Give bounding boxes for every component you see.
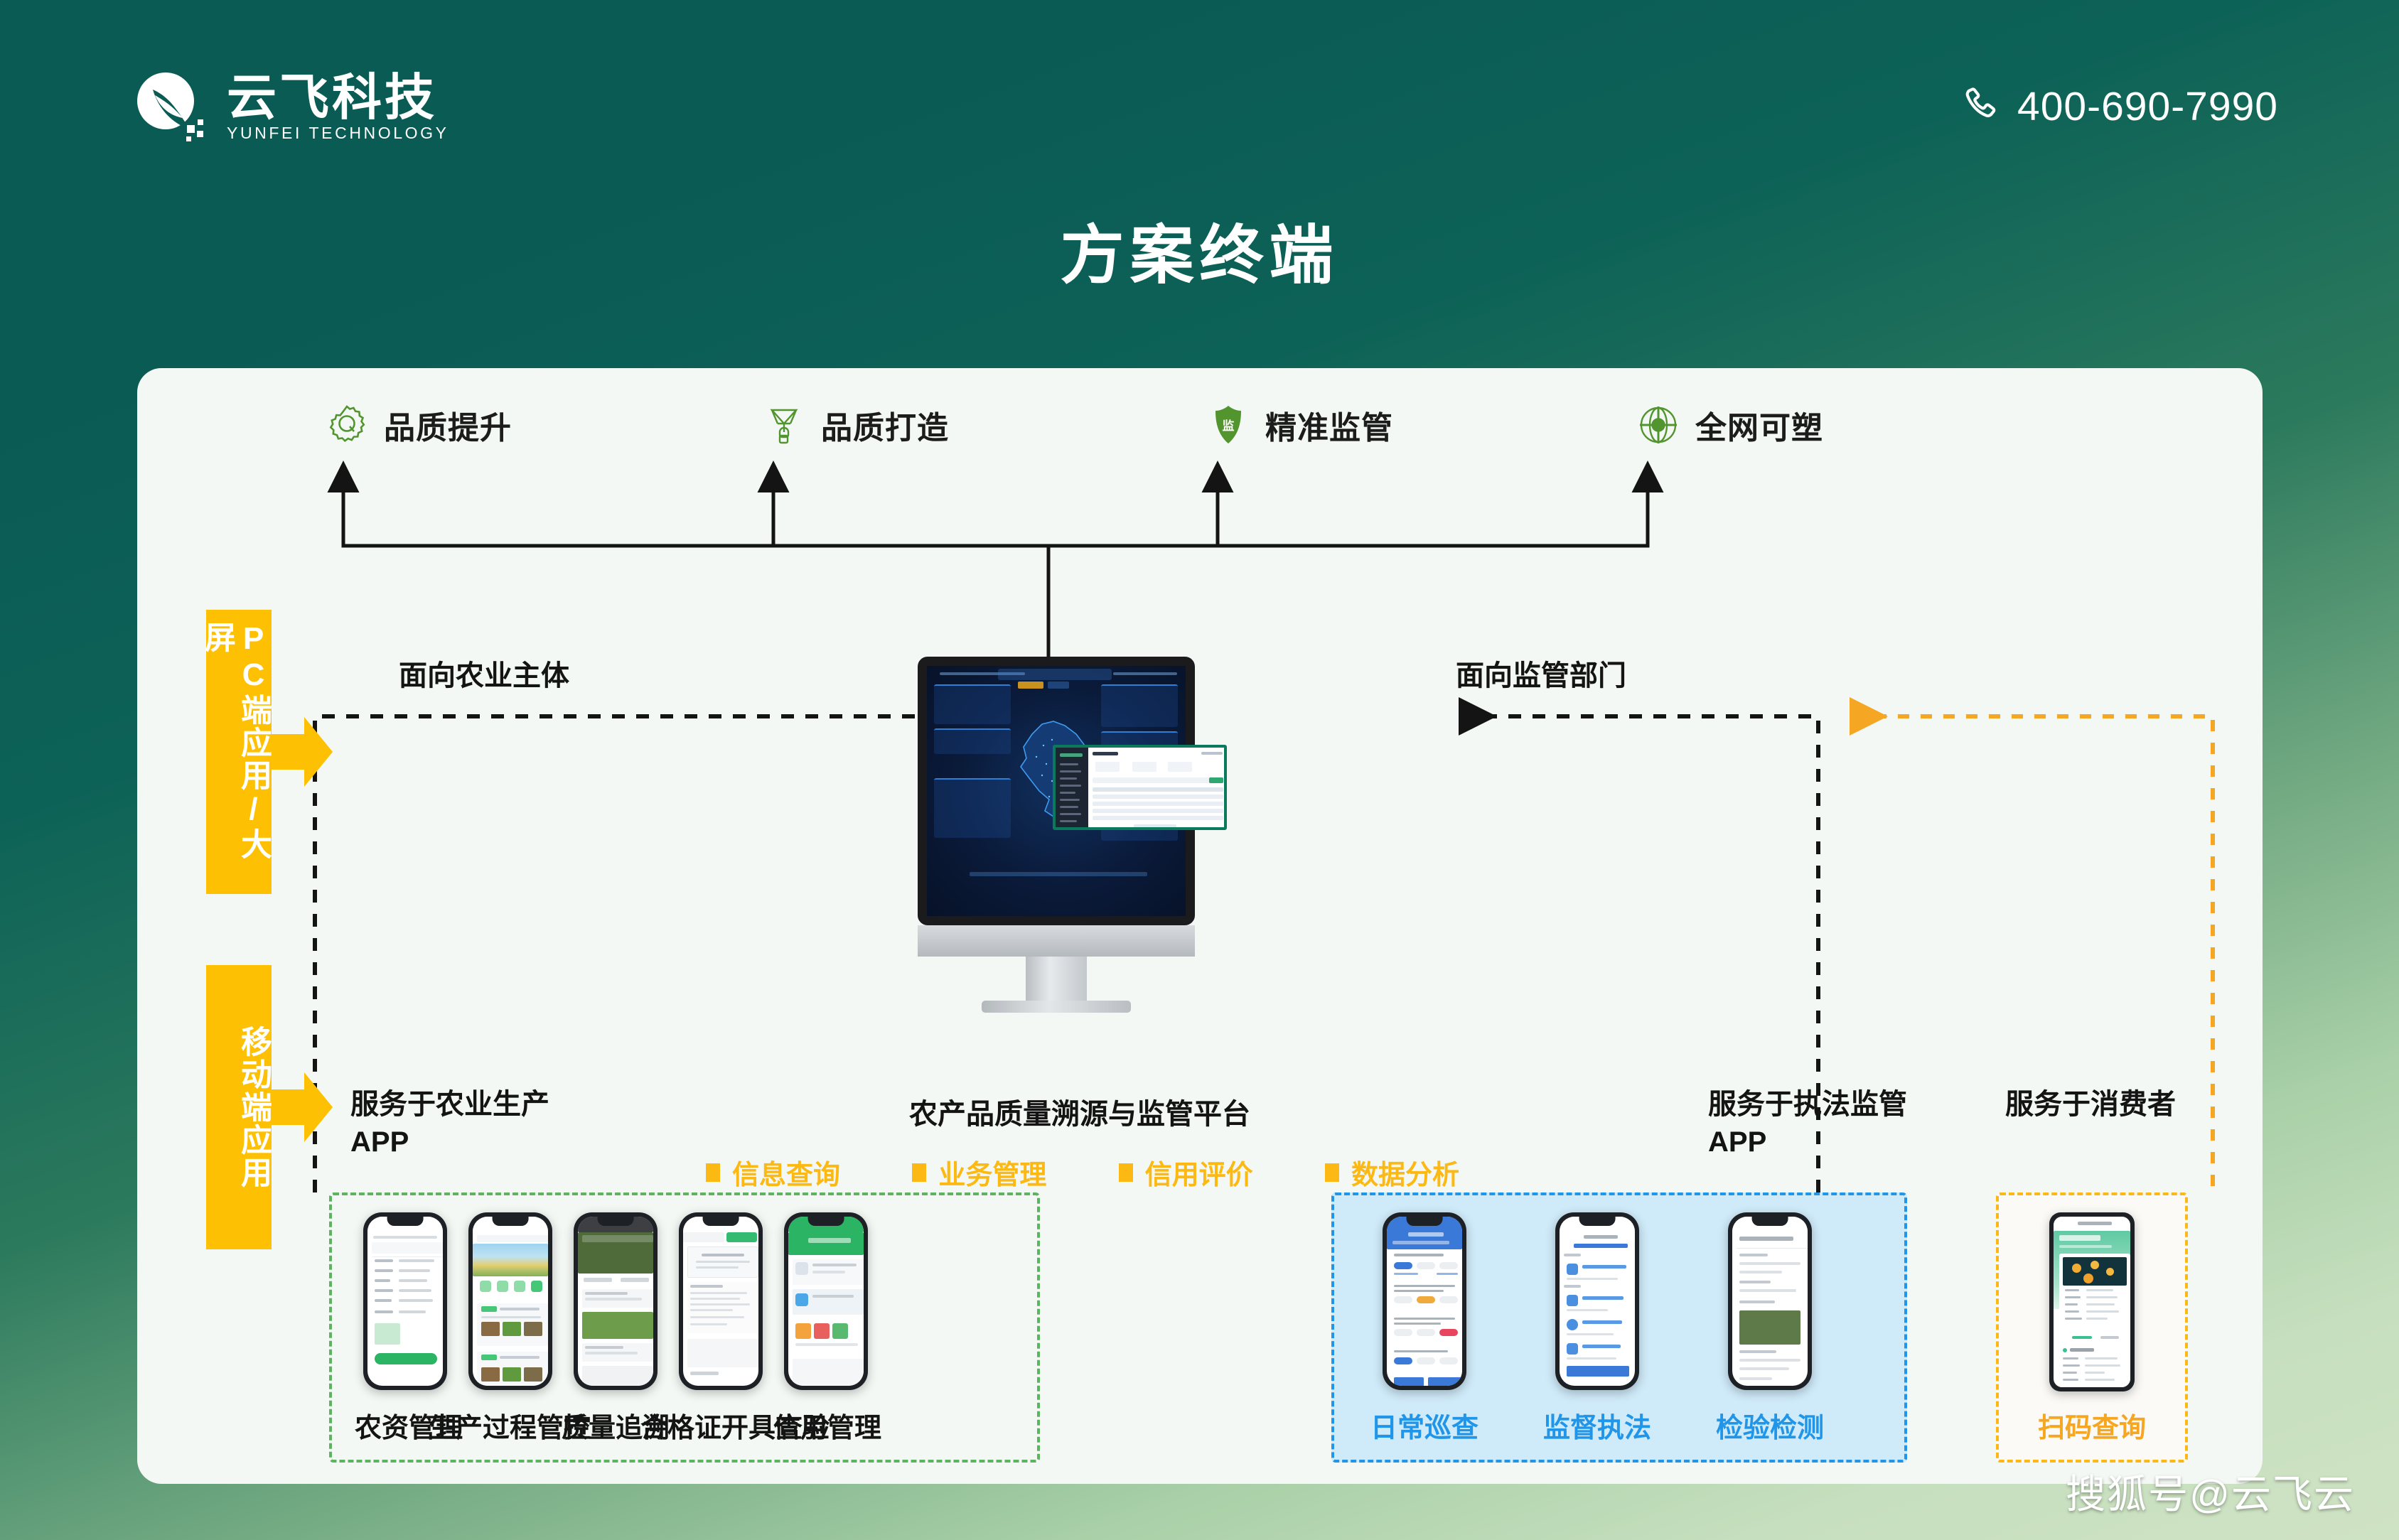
phone-mockup-enforcement[interactable] — [1555, 1212, 1639, 1390]
app-label-scan-query: 扫码查询 — [2038, 1406, 2146, 1445]
service-note-enforcement: 服务于执法监管 APP — [1708, 1086, 1907, 1161]
page-title-text: 方案终端 — [1061, 220, 1339, 291]
side-tab-label: PC端应用/大屏 — [199, 621, 272, 883]
watermark: 搜狐号@云飞云 — [2066, 1463, 2355, 1520]
desktop-monitor-icon — [918, 657, 1195, 1013]
leaf-circle-logo-icon — [132, 68, 208, 145]
bullet-square-icon — [912, 1163, 926, 1182]
bullet-square-icon — [1119, 1163, 1133, 1182]
side-tab-mobile[interactable]: 移动端应用 — [206, 965, 272, 1249]
app-label-inspection: 检验检测 — [1716, 1406, 1824, 1445]
phone-mockup-inspection[interactable] — [1728, 1212, 1812, 1390]
diamond-hand-icon — [763, 402, 805, 448]
service-note-line: APP — [350, 1124, 549, 1161]
admin-table-window-icon — [1053, 745, 1227, 830]
platform-tag[interactable]: 数据分析 — [1325, 1153, 1459, 1192]
contact-phone[interactable]: 400-690-7990 — [1960, 83, 2278, 130]
subwindow-sidebar — [1056, 748, 1088, 827]
feature-label: 品质提升 — [384, 402, 512, 448]
phone-mockup-production-control[interactable] — [468, 1212, 552, 1390]
phone-mockup-daily-patrol[interactable] — [1383, 1212, 1466, 1390]
bullet-square-icon — [1325, 1163, 1339, 1182]
svg-text:监: 监 — [1223, 419, 1235, 433]
feature-label: 品质打造 — [821, 402, 949, 448]
feature-quality-build[interactable]: 品质打造 — [763, 402, 949, 448]
phone-mockup-quality-trace[interactable] — [574, 1212, 658, 1390]
service-note-agriculture: 服务于农业生产 APP — [350, 1086, 549, 1161]
side-tab-label: 移动端应用 — [235, 1025, 272, 1189]
phone-mockup-credit[interactable] — [784, 1212, 868, 1390]
target-network-icon — [1637, 402, 1680, 448]
platform-tag-label: 数据分析 — [1351, 1153, 1459, 1192]
page-header: 云飞科技 YUNFEI TECHNOLOGY 400-690-7990 — [0, 0, 2399, 213]
service-note-line: 服务于农业生产 — [350, 1086, 549, 1124]
service-note-line: 服务于执法监管 — [1708, 1086, 1907, 1124]
phone-icon — [1960, 85, 2002, 129]
flow-label-right: 面向监管部门 — [1456, 652, 1626, 694]
app-label-credit: 信用管理 — [773, 1406, 881, 1445]
feature-network-shaping[interactable]: 全网可塑 — [1637, 402, 1823, 448]
brand-name-en: YUNFEI TECHNOLOGY — [227, 125, 449, 141]
brand-name-cn: 云飞科技 — [227, 72, 449, 122]
brand-logo: 云飞科技 YUNFEI TECHNOLOGY — [132, 68, 449, 145]
side-tab-pc[interactable]: PC端应用/大屏 — [206, 610, 272, 894]
service-note-line: APP — [1708, 1124, 1907, 1161]
app-label-enforcement: 监督执法 — [1543, 1406, 1651, 1445]
monitor-neck — [1026, 957, 1087, 1001]
flow-label-left: 面向农业主体 — [399, 652, 569, 694]
content-card: 品质提升 品质打造 监 精准监管 — [137, 368, 2263, 1484]
feature-label: 全网可塑 — [1695, 402, 1823, 448]
monitor-chin — [918, 925, 1195, 957]
supervision-shield-icon: 监 — [1207, 402, 1250, 448]
platform-tag-label: 信息查询 — [732, 1153, 840, 1192]
platform-tag-label: 信用评价 — [1145, 1153, 1253, 1192]
feature-quality-improve[interactable]: 品质提升 — [326, 402, 512, 448]
phone-mockup-agri-supplies[interactable] — [363, 1212, 447, 1390]
page-title: 方案终端 — [0, 203, 2399, 296]
platform-tag-row: 信息查询 业务管理 信用评价 数据分析 — [706, 1153, 1459, 1192]
service-note-consumer: 服务于消费者 — [2005, 1086, 2176, 1124]
quality-seal-icon — [326, 402, 368, 448]
arrow-right-icon — [272, 714, 333, 790]
feature-precise-supervision[interactable]: 监 精准监管 — [1207, 402, 1393, 448]
phone-mockup-certificate[interactable] — [679, 1212, 763, 1390]
platform-caption: 农产品质量溯源与监管平台 — [724, 1096, 1435, 1134]
feature-label: 精准监管 — [1265, 402, 1393, 448]
bullet-square-icon — [706, 1163, 720, 1182]
phone-mockup-scan-query[interactable] — [2049, 1212, 2135, 1391]
phone-number: 400-690-7990 — [2017, 83, 2278, 130]
side-tab-mobile-arrow — [272, 1070, 333, 1148]
top-feature-row: 品质提升 品质打造 监 精准监管 — [137, 368, 2263, 468]
platform-tag[interactable]: 信息查询 — [706, 1153, 840, 1192]
side-tab-pc-arrow — [272, 714, 333, 793]
arrow-right-icon — [272, 1070, 333, 1145]
app-label-daily-patrol: 日常巡查 — [1370, 1406, 1478, 1445]
platform-tag[interactable]: 信用评价 — [1119, 1153, 1253, 1192]
monitor-base — [982, 1001, 1131, 1013]
platform-tag-label: 业务管理 — [938, 1153, 1046, 1192]
platform-tag[interactable]: 业务管理 — [912, 1153, 1046, 1192]
